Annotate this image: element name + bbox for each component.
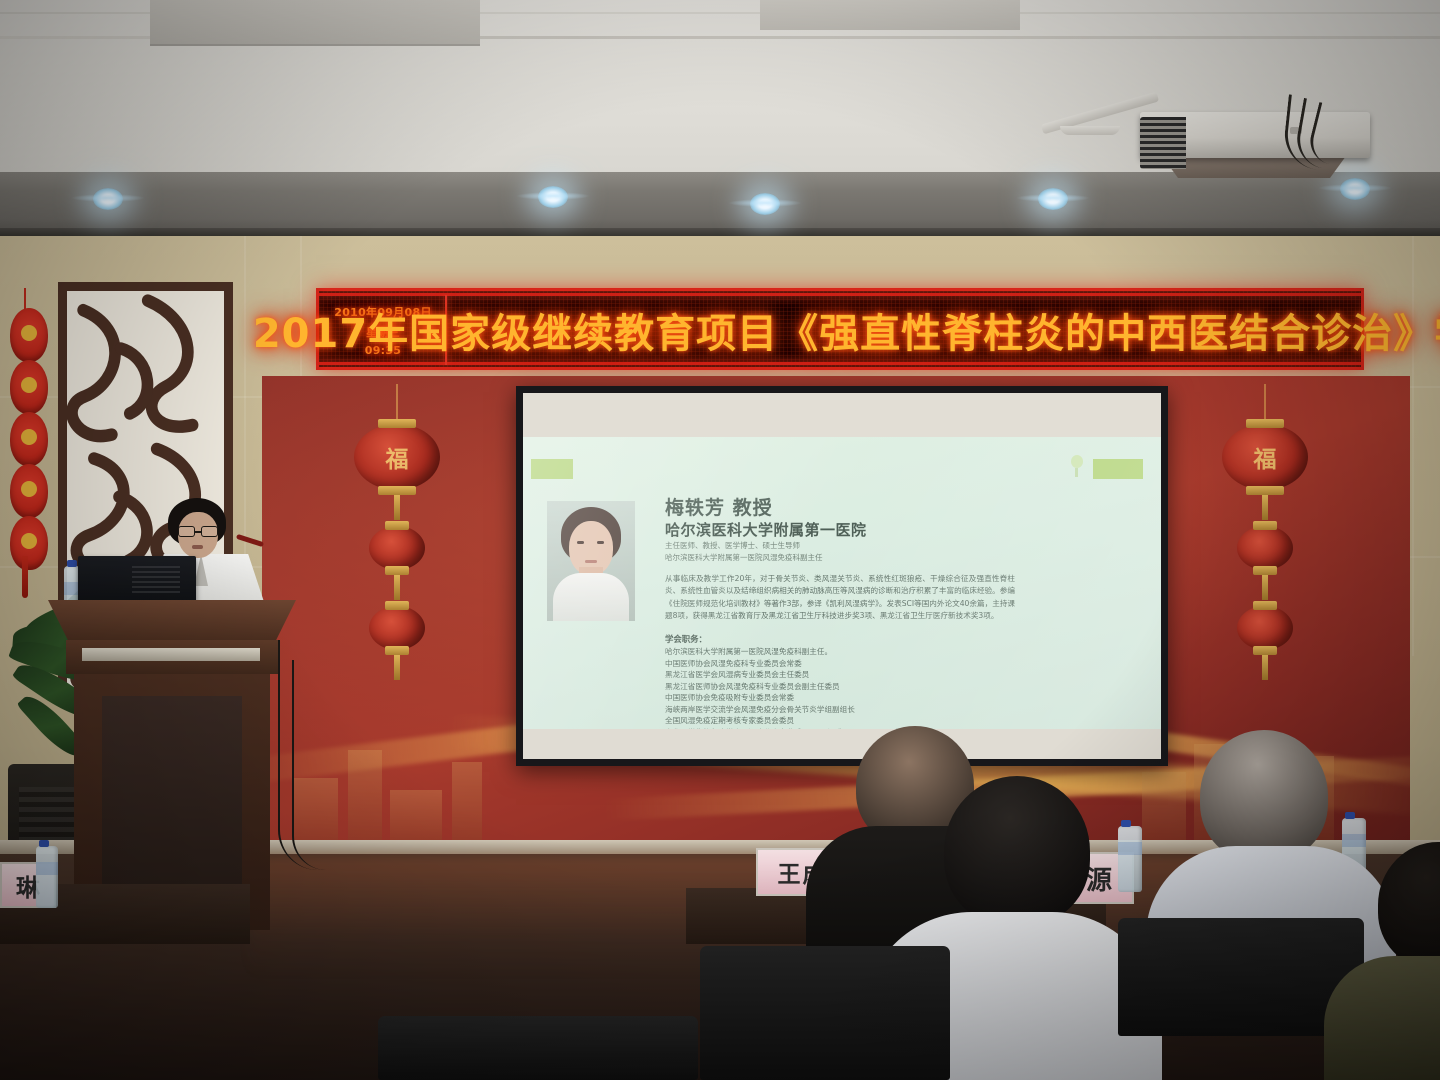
paper-lantern xyxy=(1237,526,1293,570)
spotlight-icon xyxy=(1340,178,1370,200)
led-headline-block: 2017年国家级继续教育项目《强直性脊柱炎的中西医结合诊治》学习班 xyxy=(453,294,1357,366)
role-item: 中国医师协会免疫吸附专业委员会常委 xyxy=(665,692,1033,704)
lantern-fu-glyph: 福 xyxy=(1254,440,1277,474)
audience-chair[interactable] xyxy=(700,946,950,1080)
credential-line: 主任医师、教授、医学博士、硕士生导师 xyxy=(665,540,995,552)
audience-head xyxy=(944,776,1090,926)
projection-screen: 梅轶芳 教授 哈尔滨医科大学附属第一医院 主任医师、教授、医学博士、硕士生导师 … xyxy=(516,386,1168,766)
lightbulb-icon xyxy=(1069,455,1085,481)
role-item: 中国医师协会风湿免疫科专业委员会常委 xyxy=(665,658,1033,670)
role-item: 哈尔滨医科大学附属第一医院风湿免疫科副主任。 xyxy=(665,646,1033,658)
presentation-slide: 梅轶芳 教授 哈尔滨医科大学附属第一医院 主任医师、教授、医学博士、硕士生导师 … xyxy=(523,437,1161,729)
ceiling-duct xyxy=(150,0,480,46)
spotlight-icon xyxy=(93,188,123,210)
paper-lantern: 福 xyxy=(1222,424,1308,490)
audience-head xyxy=(1200,730,1328,862)
audience-chair[interactable] xyxy=(378,1016,698,1080)
projector-vent-icon xyxy=(1140,117,1186,169)
lantern-fu-glyph: 福 xyxy=(386,440,409,474)
led-banner: 2010年09月08日 星期三 09:35 2017年国家级继续教育项目《强直性… xyxy=(316,288,1364,370)
led-headline: 2017年国家级继续教育项目《强直性脊柱炎的中西医结合诊治》学习班 xyxy=(253,301,1440,359)
wooden-podium xyxy=(48,600,296,930)
paper-lantern: 福 xyxy=(354,424,440,490)
spotlight-icon xyxy=(1038,188,1068,210)
slide-credentials: 主任医师、教授、医学博士、硕士生导师 哈尔滨医科大学附属第一医院风湿免疫科副主任 xyxy=(665,540,995,563)
slide-biography: 从事临床及教学工作20年，对于骨关节炎、类风湿关节炎、系统性红斑狼疮、干燥综合征… xyxy=(665,573,1015,622)
paper-lantern xyxy=(369,606,425,650)
spotlight-icon xyxy=(750,193,780,215)
role-item: 中华医学生物免疫学会风湿病分会专业委员A&R和《Rheumatology》审稿人 xyxy=(665,727,1033,729)
slide-roles-title: 学会职务： xyxy=(665,633,707,645)
eyeglasses-icon xyxy=(201,526,218,537)
hanging-chinese-knot xyxy=(4,288,54,598)
credential-line: 哈尔滨医科大学附属第一医院风湿免疫科副主任 xyxy=(665,552,995,564)
spotlight-icon xyxy=(538,186,568,208)
role-item: 海峡两岸医学交流学会风湿免疫分会骨关节炎学组副组长 xyxy=(665,704,1033,716)
slide-accent-bar-left xyxy=(531,459,573,479)
paper-lantern xyxy=(1237,606,1293,650)
podium-microphone xyxy=(236,534,264,547)
ceiling-soffit xyxy=(0,172,1440,234)
paper-lantern xyxy=(369,526,425,570)
eyeglasses-icon xyxy=(178,526,195,537)
speaker-portrait-photo xyxy=(547,501,635,621)
lantern-string: 福 xyxy=(1222,384,1308,686)
slide-speaker-name: 梅轶芳 教授 xyxy=(665,493,773,520)
role-item: 全国风湿免疫定期考核专家委员会委员 xyxy=(665,715,1033,727)
ceiling-duct xyxy=(760,0,1020,30)
lantern-string: 福 xyxy=(354,384,440,686)
power-cable xyxy=(292,660,326,870)
role-item: 黑龙江省医学会风湿病专业委员会主任委员 xyxy=(665,669,1033,681)
placard-name: 源 xyxy=(1086,860,1112,897)
soffit-lip xyxy=(0,228,1440,236)
role-item: 黑龙江省医师协会风湿免疫科专业委员会副主任委员 xyxy=(665,681,1033,693)
slide-accent-bar-right xyxy=(1093,459,1143,479)
water-bottle xyxy=(36,846,58,908)
water-bottle xyxy=(1118,826,1142,892)
slide-roles-list: 哈尔滨医科大学附属第一医院风湿免疫科副主任。 中国医师协会风湿免疫科专业委员会常… xyxy=(665,646,1033,729)
ceiling-pipe xyxy=(1060,126,1120,135)
slide-organization: 哈尔滨医科大学附属第一医院 xyxy=(665,519,867,540)
lecture-hall-scene: 2010年09月08日 星期三 09:35 2017年国家级继续教育项目《强直性… xyxy=(0,0,1440,1080)
